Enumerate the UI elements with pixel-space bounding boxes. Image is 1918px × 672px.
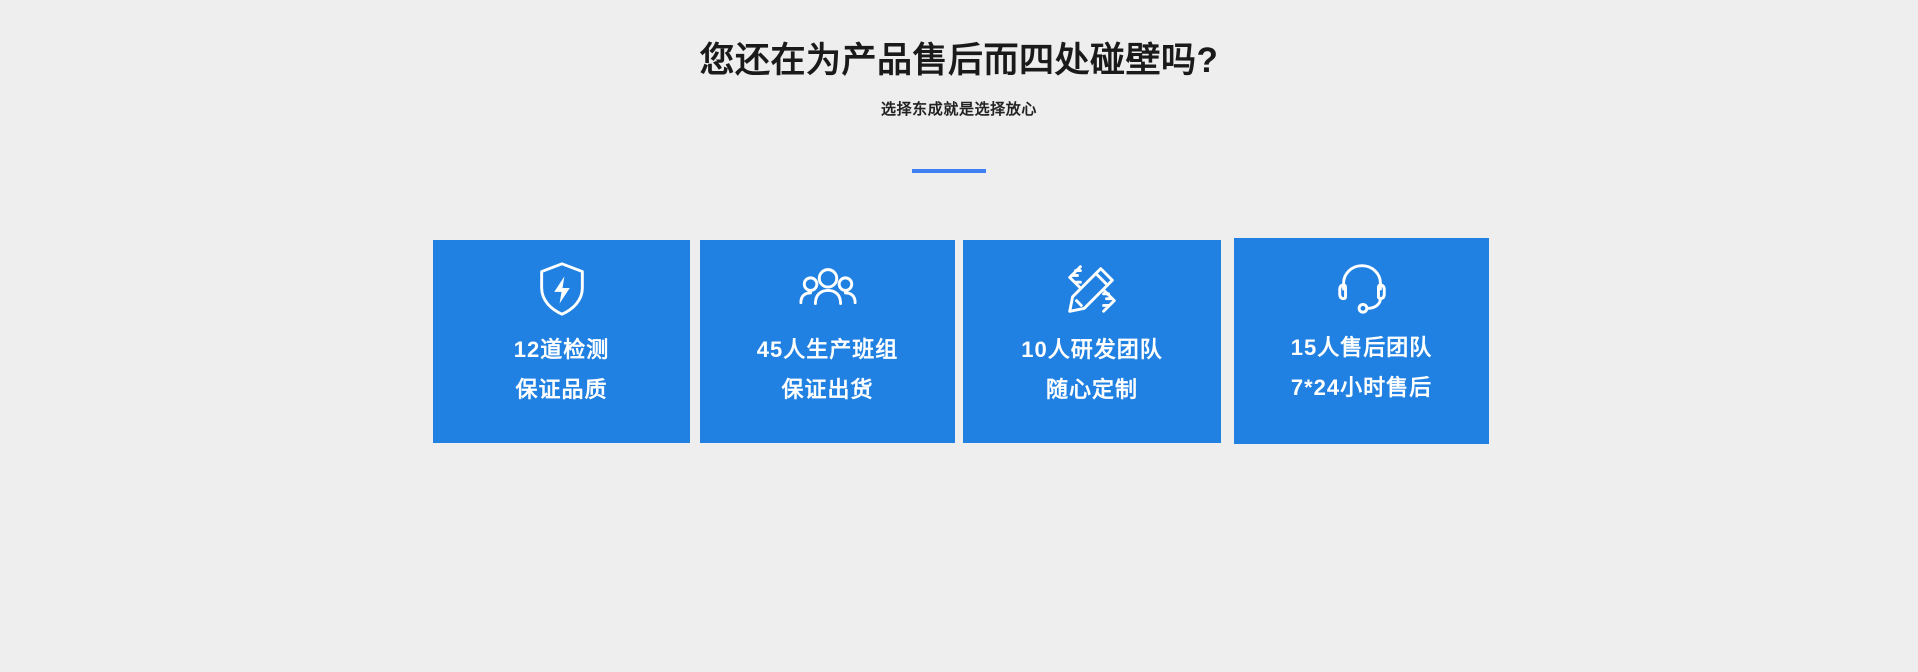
feature-card-production[interactable]: 45人生产班组 保证出货	[700, 240, 955, 443]
feature-card-line1: 12道检测	[433, 330, 690, 370]
feature-card-list: 12道检测 保证品质 45人生产班组 保证出货	[433, 240, 1489, 450]
feature-card-text: 15人售后团队 7*24小时售后	[1234, 328, 1489, 408]
shield-lightning-icon	[531, 258, 593, 320]
feature-card-line2: 保证品质	[433, 370, 690, 410]
feature-card-text: 45人生产班组 保证出货	[700, 330, 955, 410]
feature-card-line2: 保证出货	[700, 370, 955, 410]
feature-card-line1: 45人生产班组	[700, 330, 955, 370]
feature-card-text: 10人研发团队 随心定制	[963, 330, 1221, 410]
feature-card-rnd[interactable]: 10人研发团队 随心定制	[963, 240, 1221, 443]
headset-icon	[1331, 256, 1393, 318]
section-header: 您还在为产品售后而四处碰壁吗? 选择东成就是选择放心	[0, 0, 1918, 120]
feature-card-line2: 随心定制	[963, 370, 1221, 410]
feature-card-line1: 10人研发团队	[963, 330, 1221, 370]
feature-card-line1: 15人售后团队	[1234, 328, 1489, 368]
feature-card-text: 12道检测 保证品质	[433, 330, 690, 410]
page-title: 您还在为产品售后而四处碰壁吗?	[0, 0, 1918, 83]
feature-card-quality[interactable]: 12道检测 保证品质	[433, 240, 690, 443]
promo-section-page: 您还在为产品售后而四处碰壁吗? 选择东成就是选择放心 12道检测 保证品质	[0, 0, 1918, 672]
pencil-ruler-icon	[1061, 258, 1123, 320]
feature-card-support[interactable]: 15人售后团队 7*24小时售后	[1234, 238, 1489, 444]
people-group-icon	[797, 258, 859, 320]
feature-card-line2: 7*24小时售后	[1234, 368, 1489, 408]
section-subtitle: 选择东成就是选择放心	[0, 83, 1918, 120]
section-divider	[912, 169, 986, 173]
